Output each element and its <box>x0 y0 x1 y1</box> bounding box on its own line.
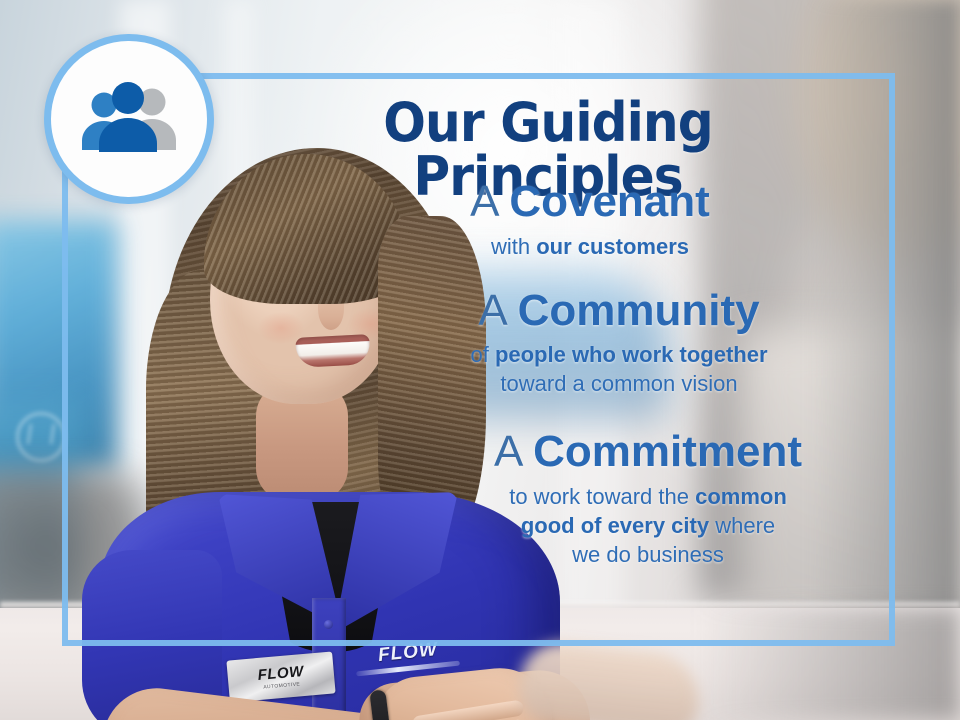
subtitle-segment: to work toward the <box>509 484 695 509</box>
subtitle-line: we do business <box>416 540 880 569</box>
subtitle-segment-emphasis: good of every city <box>521 513 709 538</box>
principle-keyword: Covenant <box>509 177 709 226</box>
subtitle-line: with our customers <box>491 234 689 259</box>
subtitle-segment: where <box>709 513 775 538</box>
principle-title: A Commitment <box>416 428 880 476</box>
principle-keyword: Community <box>518 286 760 335</box>
principle-title: A Covenant <box>300 178 880 226</box>
principle-subtitle: with our customers <box>300 232 880 261</box>
subtitle-line: good of every city where <box>416 511 880 540</box>
principle-covenant: A Covenant with our customers <box>300 178 880 261</box>
subtitle-segment: with <box>491 234 536 259</box>
principle-keyword: Commitment <box>533 427 802 476</box>
principle-subtitle: of people who work together toward a com… <box>358 340 880 398</box>
name-badge-brand: FLOW <box>257 664 304 683</box>
subtitle-segment: of <box>470 342 494 367</box>
people-badge <box>44 34 214 204</box>
principle-article: A <box>494 427 521 476</box>
subtitle-segment-emphasis: common <box>695 484 787 509</box>
principle-article: A <box>470 177 497 226</box>
principles-list: A Covenant with our customers A Communit… <box>300 178 880 579</box>
people-group-icon <box>77 80 181 158</box>
subtitle-line: to work toward the common <box>416 482 880 511</box>
principle-community: A Community of people who work together … <box>358 287 880 399</box>
principle-commitment: A Commitment to work toward the common g… <box>416 428 880 569</box>
principle-subtitle: to work toward the common good of every … <box>416 482 880 569</box>
subtitle-segment-emphasis: our customers <box>536 234 689 259</box>
principle-title: A Community <box>358 287 880 335</box>
poster: FLOW AUTOMOTIVE FLOW <box>0 0 960 720</box>
principle-article: A <box>478 286 505 335</box>
subtitle-line: toward a common vision <box>358 369 880 398</box>
subtitle-line: of people who work together <box>358 340 880 369</box>
blurred-brand-logo-icon <box>16 412 66 462</box>
subtitle-segment-emphasis: people who work together <box>495 342 768 367</box>
